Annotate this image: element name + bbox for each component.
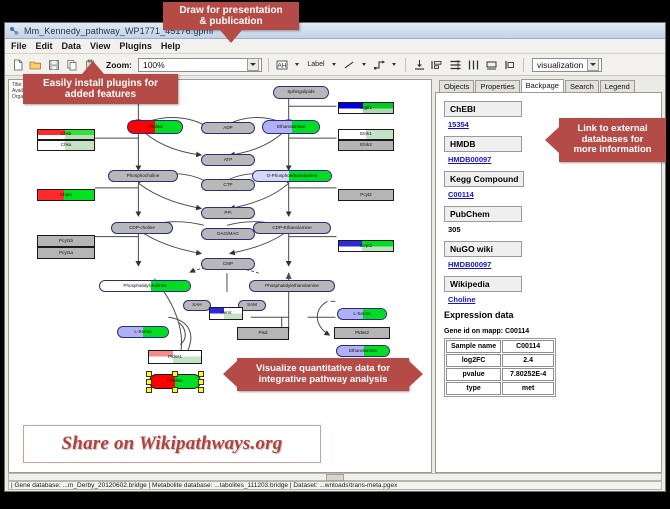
- expr-val-log2fc: 2.4: [502, 354, 554, 367]
- callout-draw-arrow: [220, 30, 242, 43]
- toolbar-separator-2: [405, 58, 406, 72]
- node-label: Etnk2: [360, 143, 372, 148]
- expr-key-log2fc: log2FC: [446, 354, 501, 367]
- node-label: Ethanolamine: [349, 349, 377, 354]
- table-row: Sample name C00114: [446, 340, 554, 353]
- expr-val-pvalue: 7.80252E-4: [502, 368, 554, 381]
- toolbar: Zoom: 100% AH Label: [5, 54, 665, 76]
- callout-links: Link to external databases for more info…: [559, 118, 666, 162]
- node-cdp-ethanolamine[interactable]: CDP-Ethanolamine: [253, 222, 331, 234]
- status-area: | Gene database: ...m_Derby_20120602.bri…: [5, 473, 665, 491]
- node-o-phosphoethanolamine[interactable]: O-Phosphoethanolamine: [252, 170, 332, 182]
- node-label: CDP-Ethanolamine: [272, 226, 311, 231]
- node-label: Chpt1: [60, 193, 72, 198]
- expr-val-sample: C00114: [502, 340, 554, 353]
- node-label: Sphingolipids: [287, 90, 314, 95]
- node-label: Phosphatidylcholines: [123, 284, 166, 289]
- order-icon[interactable]: [502, 57, 517, 72]
- zoom-value: 100%: [143, 60, 165, 70]
- callout-plugins-text: Easily install plugins for added feature…: [43, 78, 158, 101]
- node-label: O-Phosphoethanolamine: [267, 174, 318, 179]
- callout-links-arrow: [545, 127, 559, 153]
- node-label: SAH: [192, 303, 201, 308]
- gene-id-on-mapp: Gene id on mapp: C00114: [444, 328, 653, 335]
- node-label: Pcyt2: [360, 193, 372, 198]
- node-label: Choline: [167, 379, 183, 384]
- node-label: ATP: [224, 158, 233, 163]
- node-label: Cept1: [360, 244, 372, 249]
- menu-item-help[interactable]: Help: [161, 41, 181, 51]
- callout-plugins: Easily install plugins for added feature…: [23, 74, 178, 104]
- connector-tool-dropdown-icon[interactable]: [390, 57, 399, 72]
- node-pisd[interactable]: Pisd: [237, 327, 289, 340]
- save-icon[interactable]: [46, 57, 61, 72]
- node-label: Chkb: [61, 132, 72, 137]
- selection-handle[interactable]: [172, 387, 178, 393]
- callout-share-text: Share on Wikipathways.org: [62, 433, 283, 455]
- callout-visualize: Visualize quantitative data for integrat…: [237, 358, 409, 391]
- menu-item-plugins[interactable]: Plugins: [119, 41, 152, 51]
- svg-text:AH: AH: [278, 62, 287, 69]
- node-l-serine-left[interactable]: L-Serine: [117, 326, 169, 338]
- node-chpt1[interactable]: Chpt1: [37, 189, 95, 201]
- node-label: Chka: [61, 143, 72, 148]
- expression-table: Sample name C00114 log2FC 2.4 pvalue 7.8…: [444, 338, 556, 397]
- toolbar-separator: [268, 58, 269, 72]
- node-etnk1[interactable]: Etnk1: [338, 129, 394, 140]
- node-ptdss2[interactable]: Ptdss2: [334, 327, 390, 339]
- node-label: Pcyt1b: [59, 239, 73, 244]
- new-file-icon[interactable]: [10, 57, 25, 72]
- node-cmp[interactable]: CMP: [201, 258, 255, 270]
- visualization-combobox[interactable]: visualization: [532, 58, 602, 72]
- expression-data-heading: Expression data: [444, 310, 653, 320]
- node-label: L-Serine: [134, 330, 151, 335]
- selection-handle[interactable]: [198, 371, 204, 377]
- node-label: Pemt: [221, 311, 232, 316]
- node-label: Sgpl1: [360, 106, 372, 111]
- node-ethanolamine[interactable]: Ethanolamine: [262, 120, 320, 134]
- node-sgpl1[interactable]: Sgpl1: [338, 102, 394, 114]
- node-etnk2[interactable]: Etnk2: [338, 140, 394, 151]
- node-label: L-Serine: [353, 312, 370, 317]
- align-left-icon[interactable]: [430, 57, 445, 72]
- node-chka[interactable]: Chka: [37, 140, 95, 151]
- distribute-horizontal-icon[interactable]: [466, 57, 481, 72]
- title-bar: Mm_Kennedy_pathway_WP1771_45176.gpml: [5, 23, 665, 39]
- db-section-wikipedia: Wikipedia Choline: [444, 274, 653, 304]
- node-cept1[interactable]: Cept1: [338, 240, 394, 252]
- callout-visualize-arrow-right: [409, 361, 423, 387]
- chevron-down-icon-2[interactable]: [587, 58, 599, 71]
- node-label: DAG/MAG: [217, 232, 239, 237]
- selection-handle[interactable]: [198, 387, 204, 393]
- connector-tool-icon[interactable]: [372, 57, 387, 72]
- node-ethanolamine-right[interactable]: Ethanolamine: [336, 345, 390, 357]
- scrollbar-thumb[interactable]: [326, 474, 344, 481]
- tab-backpage[interactable]: Backpage: [521, 79, 564, 92]
- callout-visualize-arrow-left: [223, 361, 237, 387]
- callout-draw-text: Draw for presentation & publication: [179, 5, 282, 28]
- label-tool-label: Label: [307, 61, 324, 68]
- db-header-kegg: Kegg Compound: [444, 171, 524, 187]
- expr-key-type: type: [446, 382, 501, 395]
- copy-icon[interactable]: [64, 57, 79, 72]
- screenshot-root: Mm_Kennedy_pathway_WP1771_45176.gpml Fil…: [0, 0, 670, 509]
- table-row: log2FC 2.4: [446, 354, 554, 367]
- node-phosphatidylethanolamine[interactable]: Phosphatidylethanolamine: [249, 280, 335, 292]
- node-adp[interactable]: ADP: [201, 122, 255, 134]
- toolbar-separator-3: [523, 58, 524, 72]
- selection-handle[interactable]: [146, 379, 152, 385]
- db-section-pubchem: PubChem 305: [444, 204, 653, 234]
- selection-handle[interactable]: [146, 387, 152, 393]
- node-label: PPi: [224, 211, 231, 216]
- expr-key-sample: Sample name: [446, 340, 501, 353]
- node-ptdss1[interactable]: Ptdss1: [148, 350, 202, 364]
- selection-handle[interactable]: [198, 379, 204, 385]
- node-phosphatidylcholines[interactable]: Phosphatidylcholines: [99, 280, 191, 292]
- visualization-value: visualization: [537, 60, 583, 70]
- node-pcyt2[interactable]: Pcyt2: [338, 189, 394, 201]
- db-header-hmdb: HMDB: [444, 136, 522, 152]
- expr-key-pvalue: pvalue: [446, 368, 501, 381]
- node-cdp-choline[interactable]: CDP-choline: [111, 222, 173, 234]
- db-section-kegg: Kegg Compound C00114: [444, 169, 653, 199]
- node-label: Ptdss2: [355, 331, 369, 336]
- node-phosphocholine[interactable]: Phosphocholine: [108, 170, 178, 182]
- db-value-pubchem: 305: [448, 225, 653, 234]
- pathway-drawing[interactable]: Title: Availa Organi: [9, 80, 431, 472]
- status-bar: | Gene database: ...m_Derby_20120602.bri…: [8, 481, 662, 490]
- text-tool-dropdown-icon[interactable]: [293, 57, 302, 72]
- open-folder-icon[interactable]: [28, 57, 43, 72]
- callout-share: Share on Wikipathways.org: [23, 425, 321, 463]
- node-label: Ethanolamine: [277, 125, 305, 130]
- chevron-down-icon[interactable]: [247, 58, 259, 71]
- node-ctp[interactable]: CTP: [201, 179, 255, 191]
- align-bottom-icon[interactable]: [412, 57, 427, 72]
- node-choline[interactable]: Choline: [127, 120, 183, 134]
- tab-objects[interactable]: Objects: [439, 80, 474, 92]
- node-label: Pisd: [259, 331, 268, 336]
- status-bar-text: | Gene database: ...m_Derby_20120602.bri…: [9, 482, 397, 489]
- node-sphingolipids[interactable]: Sphingolipids: [273, 86, 329, 99]
- callout-links-text: Link to external databases for more info…: [573, 124, 651, 157]
- db-link-wikipedia[interactable]: Choline: [448, 295, 653, 304]
- menu-item-view[interactable]: View: [90, 41, 110, 51]
- node-pcyt1a[interactable]: Pcyt1a: [37, 247, 95, 259]
- node-chkb[interactable]: Chkb: [37, 129, 95, 140]
- panel-tabs: Objects Properties Backpage Search Legen…: [435, 79, 662, 92]
- menu-item-data[interactable]: Data: [62, 41, 82, 51]
- node-pemt[interactable]: Pemt: [209, 307, 243, 320]
- node-dagmag[interactable]: DAG/MAG: [201, 228, 255, 240]
- label-tool-dropdown-icon[interactable]: [330, 57, 339, 72]
- selection-handle[interactable]: [172, 371, 178, 377]
- db-header-chebi: ChEBI: [444, 101, 522, 117]
- menu-bar: File Edit Data View Plugins Help: [5, 39, 665, 54]
- label-tool-button[interactable]: Label: [305, 57, 327, 72]
- callout-draw: Draw for presentation & publication: [163, 2, 299, 30]
- tab-legend[interactable]: Legend: [600, 80, 635, 92]
- pathway-canvas[interactable]: Title: Availa Organi: [8, 79, 432, 473]
- db-header-pubchem: PubChem: [444, 206, 522, 222]
- distribute-vertical-icon[interactable]: [448, 57, 463, 72]
- node-label: SAM: [247, 303, 257, 308]
- text-tool-icon[interactable]: AH: [275, 57, 290, 72]
- zoom-combobox[interactable]: 100%: [138, 58, 262, 72]
- node-label: Etnk1: [360, 132, 372, 137]
- table-row: pvalue 7.80252E-4: [446, 368, 554, 381]
- node-label: CMP: [223, 262, 233, 267]
- callout-visualize-text: Visualize quantitative data for integrat…: [256, 364, 390, 386]
- node-label: ADP: [223, 126, 232, 131]
- node-label: Pcyt1a: [59, 251, 73, 256]
- node-label: Choline: [147, 125, 163, 130]
- node-atp[interactable]: ATP: [201, 154, 255, 166]
- menu-item-edit[interactable]: Edit: [36, 41, 53, 51]
- group-icon[interactable]: [484, 57, 499, 72]
- table-row: type met: [446, 382, 554, 395]
- tab-properties[interactable]: Properties: [475, 80, 519, 92]
- selection-handle[interactable]: [146, 371, 152, 377]
- node-label: CDP-choline: [129, 226, 155, 231]
- app-icon: [9, 26, 19, 36]
- callout-plugins-arrow: [82, 61, 104, 74]
- db-header-wikipedia: Wikipedia: [444, 276, 522, 292]
- horizontal-scrollbar[interactable]: [8, 473, 662, 481]
- node-sah[interactable]: SAH: [183, 300, 211, 311]
- line-tool-dropdown-icon[interactable]: [360, 57, 369, 72]
- node-ppi[interactable]: PPi: [201, 207, 255, 219]
- node-label: Ptdss1: [168, 355, 182, 360]
- tab-search[interactable]: Search: [565, 80, 599, 92]
- node-l-serine-right[interactable]: L-Serine: [337, 308, 387, 320]
- node-pcyt1b[interactable]: Pcyt1b: [37, 235, 95, 247]
- zoom-label: Zoom:: [106, 60, 132, 70]
- db-section-nugo: NuGO wiki HMDB00097: [444, 239, 653, 269]
- db-header-nugo: NuGO wiki: [444, 241, 522, 257]
- node-label: CTP: [223, 183, 232, 188]
- db-link-nugo[interactable]: HMDB00097: [448, 260, 653, 269]
- line-tool-icon[interactable]: [342, 57, 357, 72]
- db-link-kegg[interactable]: C00114: [448, 190, 653, 199]
- menu-item-file[interactable]: File: [11, 41, 27, 51]
- node-label: Phosphatidylethanolamine: [265, 284, 319, 289]
- node-label: Phosphocholine: [127, 174, 160, 179]
- expr-val-type: met: [502, 382, 554, 395]
